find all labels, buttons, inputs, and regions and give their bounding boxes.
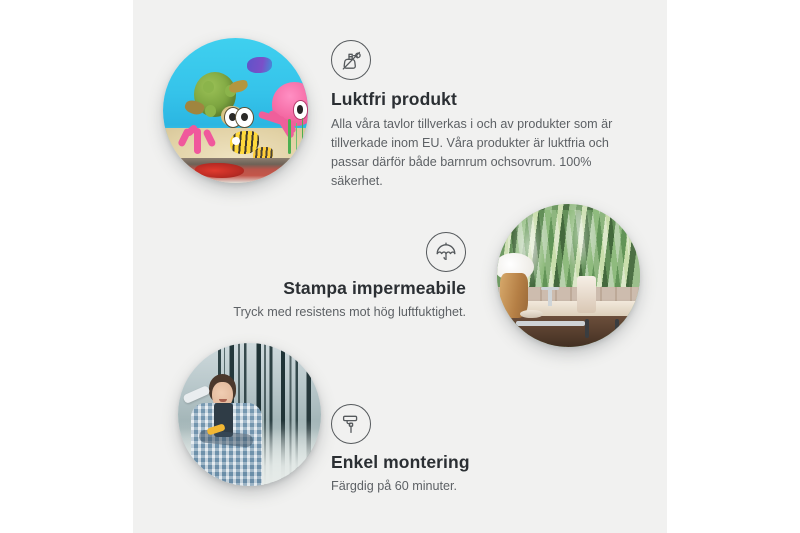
faucet [548, 287, 552, 306]
forest-scene [178, 343, 321, 486]
feature-body: Alla våra tavlor tillverkas i och av pro… [331, 115, 631, 192]
octopus [256, 82, 308, 149]
bathroom-scene [497, 204, 640, 347]
umbrella-icon [426, 232, 466, 272]
underwater-scene [163, 38, 308, 183]
feature-title: Enkel montering [331, 452, 611, 473]
feature-body: Färgdig på 60 minuter. [331, 477, 611, 496]
foreground-rocks [163, 158, 308, 183]
no-fragrance-icon [331, 40, 371, 80]
feature-waterproof: Stampa impermeabile Tryck med resistens … [216, 232, 466, 322]
feature-body: Tryck med resistens mot hög luftfuktighe… [216, 303, 466, 322]
paint-roller-icon [331, 404, 371, 444]
feature-easy-assembly: Enkel montering Färgdig på 60 minuter. [331, 404, 611, 496]
feature-title: Stampa impermeabile [216, 278, 466, 299]
coral [175, 116, 219, 154]
promo-infographic: Luktfri produkt Alla våra tavlor tillver… [0, 0, 800, 533]
seaweed [288, 119, 291, 154]
feature-odourless: Luktfri produkt Alla våra tavlor tillver… [331, 40, 631, 192]
paint-roller [183, 385, 211, 404]
bathroom-wallpaper-photo [497, 204, 640, 347]
soap-bottle [577, 276, 596, 313]
feature-title: Luktfri produkt [331, 89, 631, 110]
woman-paint-roller-forest-photo [178, 343, 321, 486]
underwater-cartoon-photo [163, 38, 308, 183]
icon-wrap [216, 232, 466, 272]
turtle-eye-right [235, 107, 254, 128]
woman [187, 374, 267, 486]
wooden-vanity [508, 316, 640, 347]
octopus-eye [293, 100, 308, 119]
